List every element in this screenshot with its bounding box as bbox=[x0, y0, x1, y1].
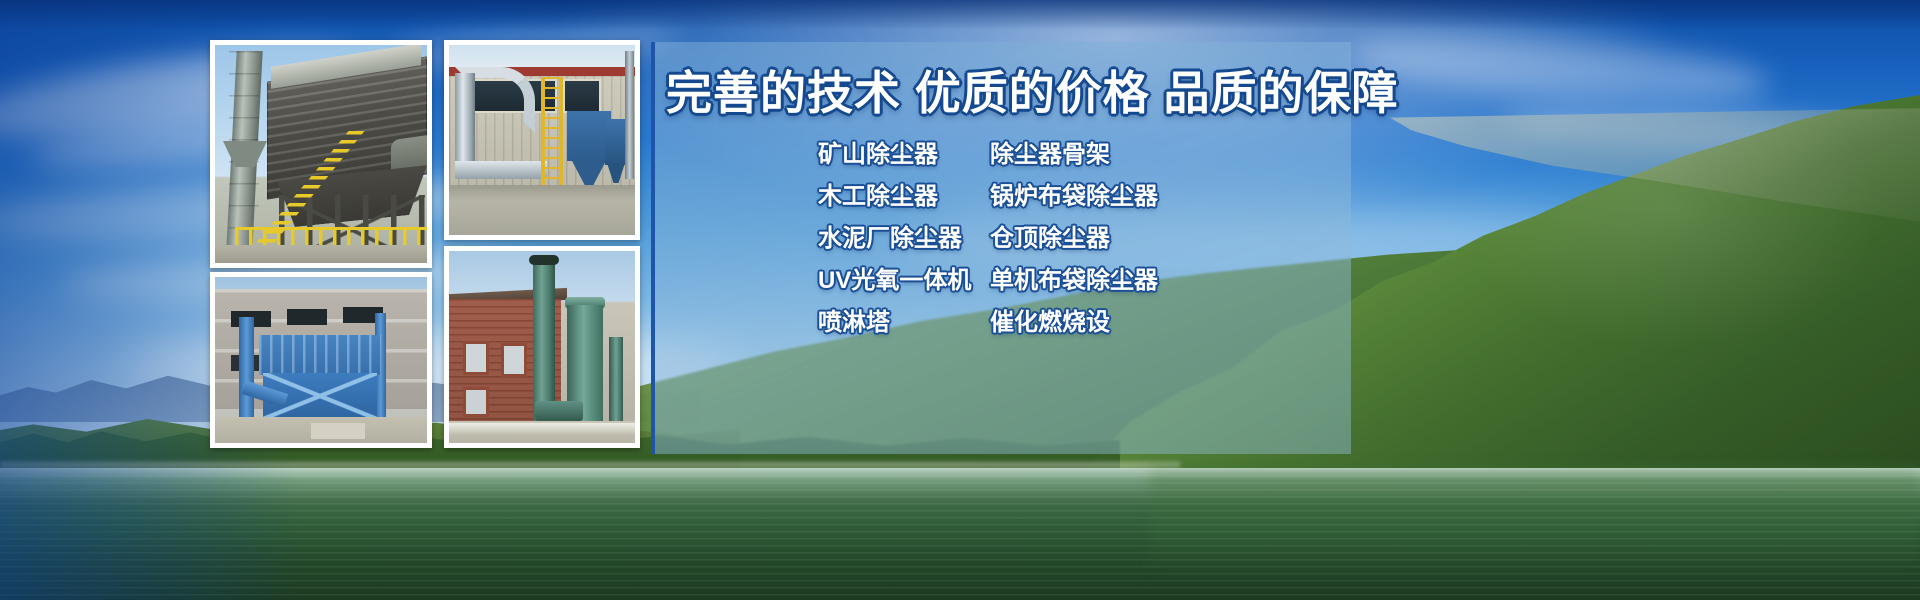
promo-banner: 完善的技术 优质的价格 品质的保障 矿山除尘器 除尘器骨架 木工除尘器 锅炉布袋… bbox=[0, 0, 1920, 600]
product-name: 矿山除尘器 bbox=[818, 134, 990, 169]
product-row: 木工除尘器 锅炉布袋除尘器 bbox=[818, 172, 1358, 214]
product-name: 仓顶除尘器 bbox=[990, 218, 1358, 253]
photo-content bbox=[215, 45, 427, 263]
brick-plant-stacks-photo bbox=[444, 246, 640, 448]
water-highlight bbox=[0, 468, 1920, 600]
product-name: 木工除尘器 bbox=[818, 176, 990, 211]
concrete-pad bbox=[311, 423, 365, 439]
product-row: UV光氧一体机 单机布袋除尘器 bbox=[818, 256, 1358, 298]
product-name: UV光氧一体机 bbox=[818, 260, 990, 295]
product-name: 催化燃烧设 bbox=[990, 302, 1358, 337]
blue-column bbox=[239, 317, 254, 429]
yellow-ladder bbox=[541, 77, 563, 189]
product-name: 水泥厂除尘器 bbox=[818, 218, 990, 253]
building-window bbox=[287, 309, 327, 325]
product-row: 喷淋塔 催化燃烧设 bbox=[818, 298, 1358, 340]
brick-window bbox=[463, 387, 489, 417]
product-name: 喷淋塔 bbox=[818, 302, 990, 337]
baghouse-ribs bbox=[259, 335, 381, 375]
right-pipe bbox=[625, 51, 634, 179]
snow-patch bbox=[449, 423, 635, 435]
green-stack-small bbox=[609, 337, 623, 429]
brick-window bbox=[501, 343, 527, 377]
photo-content bbox=[449, 45, 635, 235]
blue-baghouse-photo bbox=[210, 272, 432, 448]
vertical-duct bbox=[455, 73, 475, 169]
product-row: 水泥厂除尘器 仓顶除尘器 bbox=[818, 214, 1358, 256]
product-list: 矿山除尘器 除尘器骨架 木工除尘器 锅炉布袋除尘器 水泥厂除尘器 仓顶除尘器 U… bbox=[818, 130, 1358, 340]
product-name: 除尘器骨架 bbox=[990, 134, 1358, 169]
product-name: 单机布袋除尘器 bbox=[990, 260, 1358, 295]
ground-shadow bbox=[449, 185, 635, 201]
workshop-window bbox=[565, 81, 599, 111]
photo-content bbox=[215, 277, 427, 443]
headline-slogan: 完善的技术 优质的价格 品质的保障 bbox=[666, 60, 1356, 126]
ground-base bbox=[215, 245, 427, 263]
horizontal-duct bbox=[455, 161, 547, 179]
workshop-duct-photo bbox=[444, 40, 640, 240]
product-row: 矿山除尘器 除尘器骨架 bbox=[818, 130, 1358, 172]
blue-hopper bbox=[605, 119, 627, 165]
photo-content bbox=[449, 251, 635, 443]
brick-window bbox=[463, 341, 489, 375]
product-name: 锅炉布袋除尘器 bbox=[990, 176, 1358, 211]
green-stack-cap bbox=[529, 255, 559, 265]
green-connecting-pipe bbox=[535, 401, 583, 421]
mine-dust-collector-photo bbox=[210, 40, 432, 268]
